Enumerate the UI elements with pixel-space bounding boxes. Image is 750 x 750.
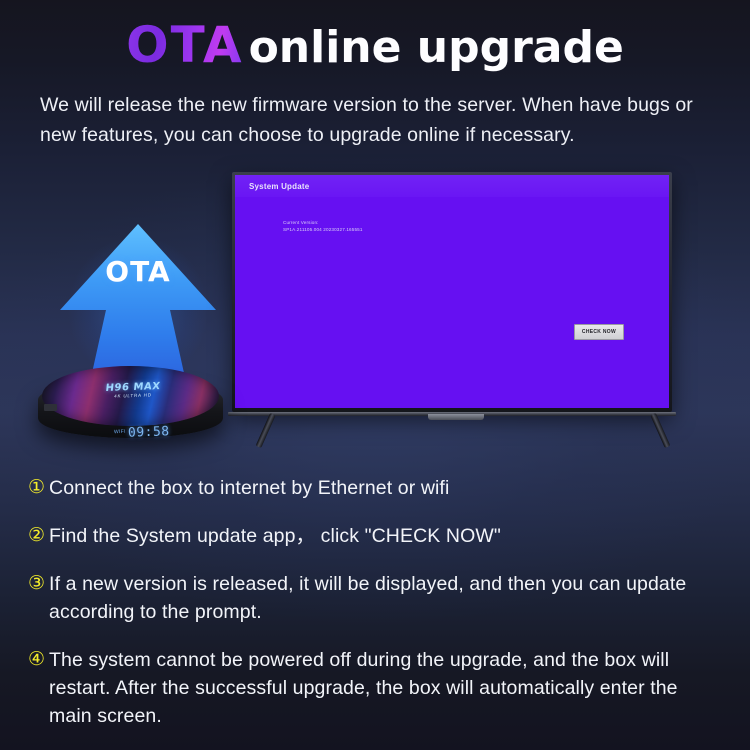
list-item: ① Connect the box to internet by Etherne…	[28, 474, 720, 502]
list-item: ③ If a new version is released, it will …	[28, 570, 720, 626]
step-text: Find the System update app， click "CHECK…	[49, 522, 501, 550]
list-item: ② Find the System update app， click "CHE…	[28, 522, 720, 550]
tv-center-nub	[428, 414, 484, 420]
page-title: OTA online upgrade	[0, 16, 750, 74]
system-update-header: System Update	[235, 175, 669, 197]
tv-leg-left	[256, 413, 276, 448]
current-version-value: SP1A.211105.004 20230327.165551	[283, 226, 363, 233]
step-text: The system cannot be powered off during …	[49, 646, 720, 730]
step-number: ③	[28, 570, 45, 597]
tv-display: System Update Current Version: SP1A.2111…	[232, 172, 672, 412]
ota-upgrade-infographic: OTA online upgrade We will release the n…	[0, 0, 750, 750]
list-item: ④ The system cannot be powered off durin…	[28, 646, 720, 730]
title-rest: online upgrade	[249, 22, 624, 73]
tv-screen: System Update Current Version: SP1A.2111…	[235, 175, 669, 408]
system-update-title: System Update	[249, 182, 309, 191]
intro-paragraph: We will release the new firmware version…	[40, 90, 722, 150]
tv-box-wifi-label: WIFI	[114, 429, 126, 435]
current-version-block: Current Version: SP1A.211105.004 2023032…	[283, 219, 363, 233]
step-text: If a new version is released, it will be…	[49, 570, 720, 626]
tv-box-led-clock: 09:58	[128, 424, 170, 440]
step-text: Connect the box to internet by Ethernet …	[49, 474, 449, 502]
step-number: ②	[28, 522, 45, 549]
title-accent-ota: OTA	[126, 16, 243, 74]
arrow-label: OTA	[58, 255, 218, 288]
steps-list: ① Connect the box to internet by Etherne…	[28, 474, 720, 750]
tv-leg-right	[650, 413, 670, 448]
step-number: ④	[28, 646, 45, 673]
tv-box-usb-port	[44, 404, 57, 411]
current-version-label: Current Version:	[283, 219, 363, 226]
step-number: ①	[28, 474, 45, 501]
check-now-button[interactable]: CHECK NOW	[574, 324, 624, 340]
tv-bezel: System Update Current Version: SP1A.2111…	[232, 172, 672, 412]
